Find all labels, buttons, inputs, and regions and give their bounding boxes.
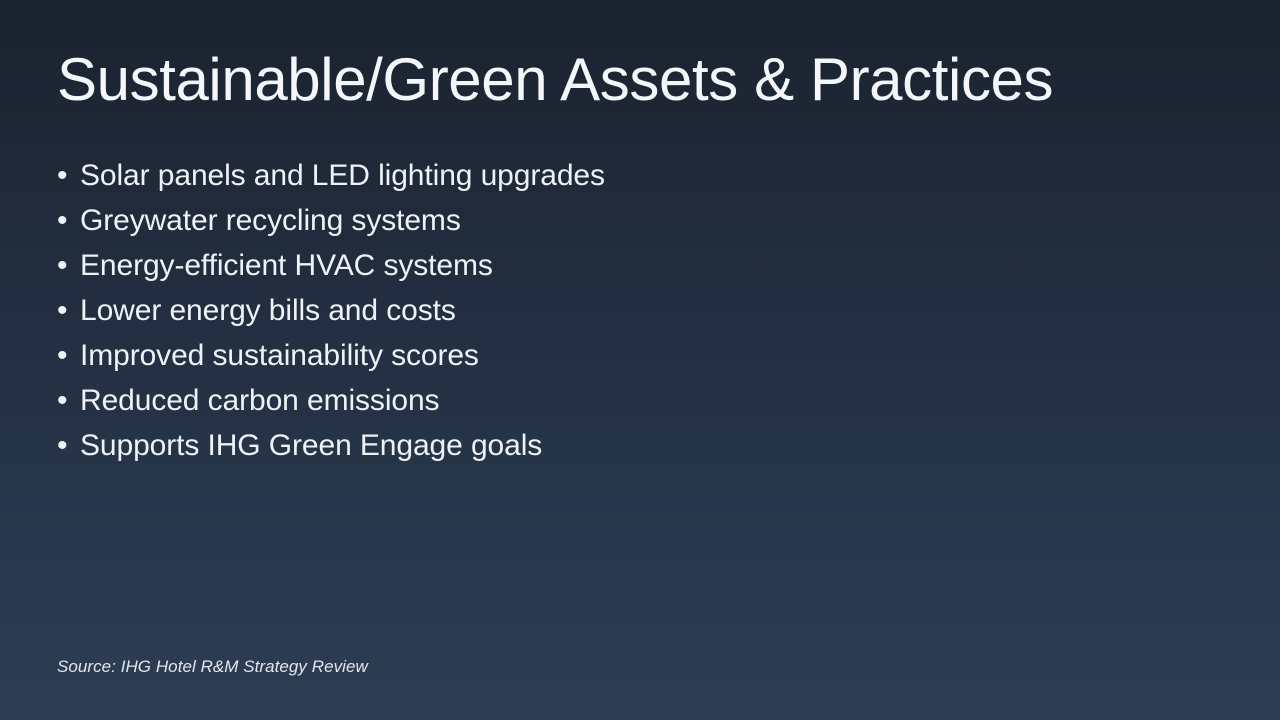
bullet-point-icon: •	[57, 333, 80, 378]
list-item: • Improved sustainability scores	[57, 333, 1157, 378]
list-item: • Greywater recycling systems	[57, 198, 1157, 243]
presentation-slide: Sustainable/Green Assets & Practices • S…	[0, 0, 1280, 720]
bullet-point-icon: •	[57, 378, 80, 423]
list-item: • Reduced carbon emissions	[57, 378, 1157, 423]
bullet-point-icon: •	[57, 153, 80, 198]
bullet-point-icon: •	[57, 198, 80, 243]
list-item-label: Supports IHG Green Engage goals	[80, 423, 542, 468]
list-item: • Lower energy bills and costs	[57, 288, 1157, 333]
list-item-label: Solar panels and LED lighting upgrades	[80, 153, 605, 198]
list-item-label: Lower energy bills and costs	[80, 288, 456, 333]
list-item-label: Improved sustainability scores	[80, 333, 479, 378]
bullet-point-icon: •	[57, 243, 80, 288]
bullet-point-icon: •	[57, 288, 80, 333]
bullet-point-icon: •	[57, 423, 80, 468]
list-item-label: Energy-efficient HVAC systems	[80, 243, 493, 288]
list-item: • Supports IHG Green Engage goals	[57, 423, 1157, 468]
source-citation: Source: IHG Hotel R&M Strategy Review	[57, 657, 368, 677]
bullet-list: • Solar panels and LED lighting upgrades…	[57, 153, 1157, 468]
list-item-label: Greywater recycling systems	[80, 198, 461, 243]
list-item-label: Reduced carbon emissions	[80, 378, 439, 423]
list-item: • Solar panels and LED lighting upgrades	[57, 153, 1157, 198]
list-item: • Energy-efficient HVAC systems	[57, 243, 1157, 288]
page-title: Sustainable/Green Assets & Practices	[57, 48, 1217, 113]
